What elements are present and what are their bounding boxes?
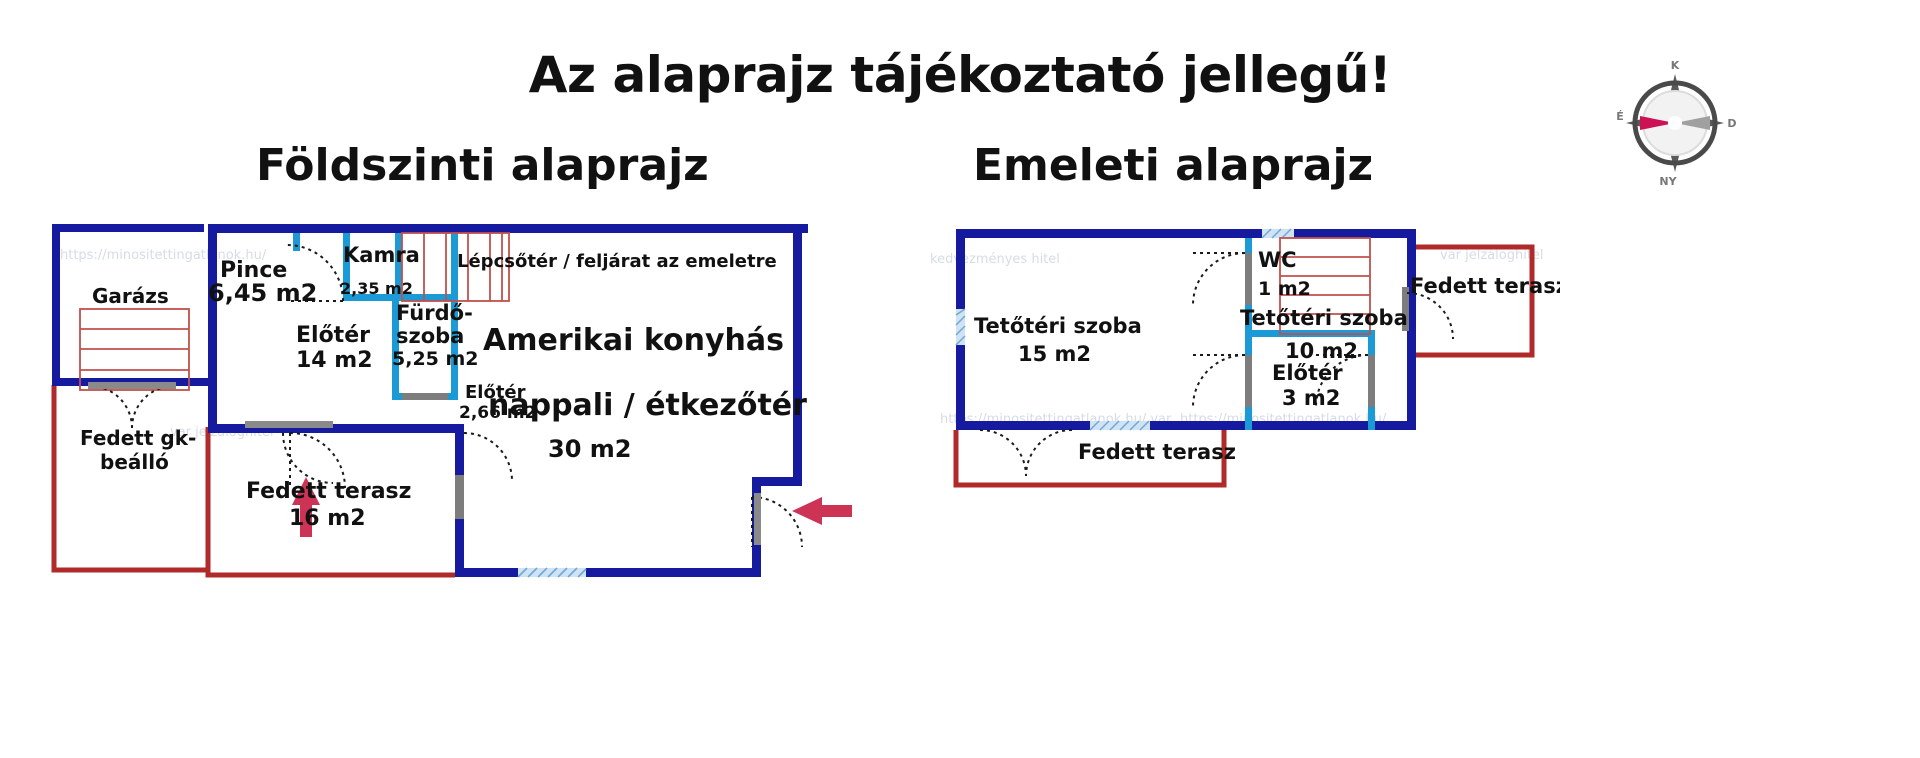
compass-hub — [1668, 116, 1682, 130]
window-hatch-ground — [518, 568, 586, 577]
label-szoba10-l2: 10 m2 — [1285, 339, 1358, 363]
door-opening-entrance — [754, 493, 761, 545]
entry-arrow-right — [792, 497, 852, 525]
label-furdo-l2: szoba — [396, 324, 464, 348]
label-furdo-l1: Fürdő- — [396, 301, 473, 325]
label-nappali-l3: 30 m2 — [548, 435, 631, 463]
label-eloter-upper-l1: Előtér — [1272, 361, 1343, 385]
label-pince-l2: 6,45 m2 — [208, 279, 317, 307]
label-szoba10-l1: Tetőtéri szoba — [1240, 306, 1408, 330]
label-nappali-l1: Amerikai konyhás — [483, 323, 784, 358]
label-terasz-bottom: Fedett terasz — [1078, 440, 1236, 464]
window-pince — [293, 233, 300, 251]
label-terasz-l1: Fedett terasz — [246, 479, 411, 504]
label-eloter-l1: Előtér — [296, 323, 370, 348]
label-fedett-gk-l2: beálló — [100, 450, 169, 474]
label-szoba15-l2: 15 m2 — [1018, 342, 1091, 366]
label-wc-l1: WC — [1258, 248, 1297, 272]
upper-floor-plan: Tetőtéri szoba 15 m2 WC 1 m2 Előtér 3 m2… — [940, 215, 1560, 505]
door-opening-garage — [88, 382, 176, 389]
label-wc-l2: 1 m2 — [1258, 278, 1311, 300]
label-kamra-l1: Kamra — [343, 243, 420, 267]
compass-label-east: K — [1671, 59, 1680, 72]
label-lepcsoter: Lépcsőtér / feljárat az emeletre — [457, 251, 777, 272]
ground-floor-title: Földszinti alaprajz — [256, 140, 709, 191]
door-opening-terrace — [245, 421, 333, 428]
label-terasz-l2: 16 m2 — [289, 506, 366, 531]
label-eloter-upper-l2: 3 m2 — [1282, 386, 1340, 410]
basement-stairs-ground — [80, 309, 189, 390]
label-furdo-l3: 5,25 m2 — [392, 348, 479, 370]
label-fedett-gk-l1: Fedett gk- — [80, 426, 196, 450]
floorplan-page: Az alaprajz tájékoztató jellegű! Földszi… — [0, 0, 1920, 758]
label-eloter-l2: 14 m2 — [296, 348, 373, 373]
compass-label-north: É — [1616, 110, 1624, 123]
compass-rose: K D É NY — [1610, 58, 1740, 188]
door-opening-bath — [402, 393, 448, 400]
compass-label-south: D — [1727, 117, 1736, 130]
label-szoba15-l1: Tetőtéri szoba — [974, 314, 1142, 338]
door-opening-wc — [1245, 253, 1252, 305]
label-kamra-l2: 2,35 m2 — [340, 279, 413, 298]
door-opening-room15 — [1245, 355, 1252, 407]
compass-label-west: NY — [1659, 175, 1677, 188]
upper-floor-title: Emeleti alaprajz — [973, 140, 1373, 191]
ground-floor-plan: Garázs Fedett gk- beálló Pince 6,45 m2 K… — [40, 215, 900, 615]
door-opening-eloter — [455, 475, 464, 519]
door-opening-room10 — [1368, 355, 1375, 407]
label-nappali-l2: nappali / étkezőtér — [488, 388, 807, 423]
label-garazs: Garázs — [92, 284, 169, 308]
label-terasz-right: Fedett terasz — [1410, 274, 1560, 298]
